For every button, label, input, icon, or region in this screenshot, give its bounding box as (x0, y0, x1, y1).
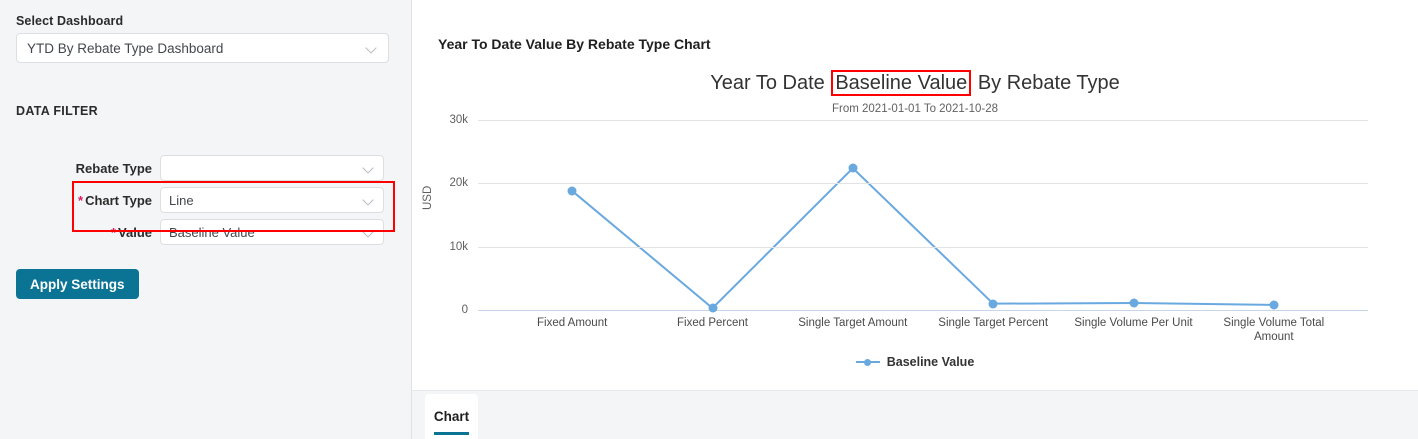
chart-type-value: Line (169, 193, 363, 208)
value-label: *Value (0, 225, 160, 240)
dashboard-select[interactable]: YTD By Rebate Type Dashboard (16, 33, 389, 63)
y-axis-tick-label: 30k (449, 114, 468, 126)
y-axis-tick-label: 10k (449, 241, 468, 253)
filter-sidebar: Select Dashboard YTD By Rebate Type Dash… (0, 0, 412, 439)
legend-marker-icon (856, 357, 880, 367)
data-point[interactable] (708, 304, 717, 313)
data-point[interactable] (848, 164, 857, 173)
x-axis-tick-label: Single Target Percent (928, 316, 1058, 330)
chart-type-select[interactable]: Line (160, 187, 384, 213)
required-asterisk: * (78, 193, 83, 208)
gridline: 0 (478, 310, 1368, 311)
value-label-text: Value (118, 225, 152, 240)
value-select-value: Baseline Value (169, 225, 363, 240)
chevron-down-icon (363, 194, 375, 206)
required-asterisk: * (111, 225, 116, 240)
y-axis-tick-label: 0 (462, 304, 468, 316)
chevron-down-icon (363, 162, 375, 174)
chart-title-suffix: By Rebate Type (972, 72, 1120, 94)
chart-container: Year To Date Baseline Value By Rebate Ty… (412, 0, 1418, 385)
tab-chart[interactable]: Chart (425, 394, 478, 439)
x-axis-tick-label: Single Volume Per Unit (1069, 316, 1199, 330)
y-axis-label: USD (422, 186, 434, 210)
gridline: 20k (478, 183, 1368, 184)
chart-subtitle: From 2021-01-01 To 2021-10-28 (412, 103, 1418, 115)
rebate-type-select[interactable] (160, 155, 384, 181)
select-dashboard-label: Select Dashboard (16, 14, 123, 28)
data-point[interactable] (568, 186, 577, 195)
field-row-value: *Value Baseline Value (0, 219, 412, 245)
data-point[interactable] (1129, 299, 1138, 308)
data-point[interactable] (1269, 300, 1278, 309)
main-content: Year To Date Value By Rebate Type Chart … (412, 0, 1418, 439)
chart-plot-area: 010k20k30kFixed AmountFixed PercentSingl… (478, 120, 1368, 310)
y-axis-tick-label: 20k (449, 177, 468, 189)
data-filter-header: DATA FILTER (16, 104, 98, 118)
tab-bar: Chart (412, 390, 1418, 439)
x-axis-tick-label: Fixed Percent (648, 316, 778, 330)
value-select[interactable]: Baseline Value (160, 219, 384, 245)
chevron-down-icon (366, 42, 378, 54)
chart-title: Year To Date Baseline Value By Rebate Ty… (412, 72, 1418, 95)
dashboard-select-value: YTD By Rebate Type Dashboard (27, 41, 366, 56)
dashboard-page: Select Dashboard YTD By Rebate Type Dash… (0, 0, 1418, 439)
x-axis-tick-label: Single Volume Total Amount (1209, 316, 1339, 344)
rebate-type-label: Rebate Type (0, 161, 160, 176)
field-row-rebate-type: Rebate Type (0, 155, 412, 181)
x-axis-tick-label: Single Target Amount (788, 316, 918, 330)
chart-title-highlight: Baseline Value (831, 70, 971, 96)
chart-type-label-text: Chart Type (85, 193, 152, 208)
tab-chart-label: Chart (434, 409, 469, 424)
chevron-down-icon (363, 226, 375, 238)
chart-type-label: *Chart Type (0, 193, 160, 208)
data-point[interactable] (989, 299, 998, 308)
gridline: 10k (478, 247, 1368, 248)
rebate-type-label-text: Rebate Type (76, 161, 152, 176)
chart-title-prefix: Year To Date (710, 72, 830, 94)
chart-line-svg (478, 120, 1368, 310)
legend-label: Baseline Value (887, 355, 975, 369)
chart-legend: Baseline Value (412, 355, 1418, 369)
gridline: 30k (478, 120, 1368, 121)
apply-settings-button[interactable]: Apply Settings (16, 269, 139, 299)
x-axis-tick-label: Fixed Amount (507, 316, 637, 330)
field-row-chart-type: *Chart Type Line (0, 187, 412, 213)
